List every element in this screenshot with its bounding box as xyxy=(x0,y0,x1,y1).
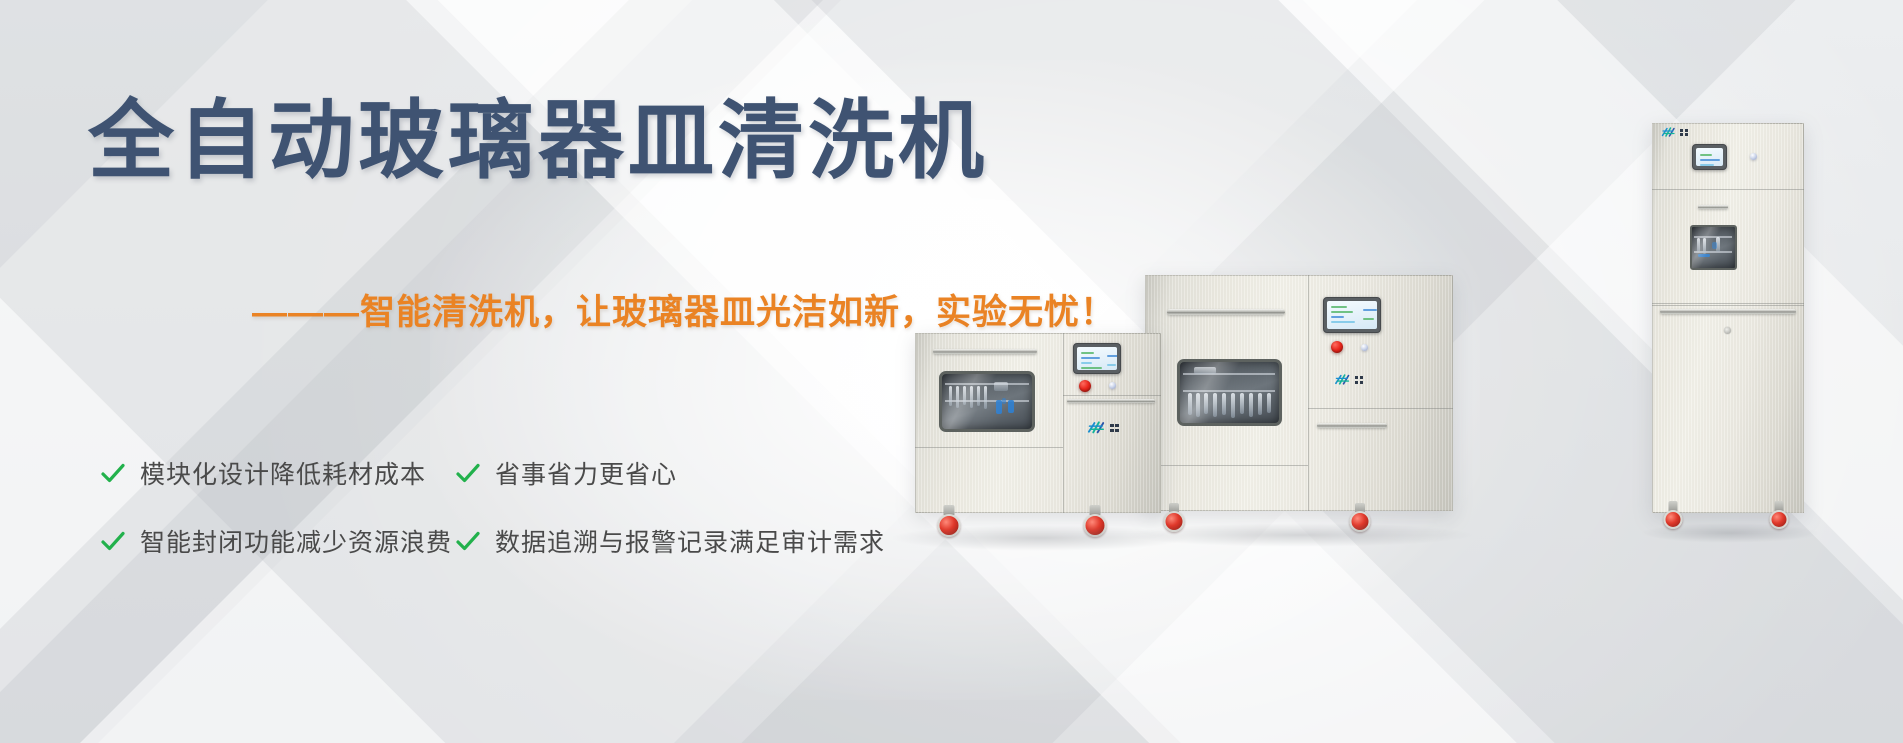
door-handle[interactable] xyxy=(933,349,1037,354)
glass-reflection xyxy=(1180,362,1279,423)
product-images xyxy=(0,0,1903,743)
panel-seam xyxy=(1063,395,1161,396)
product-undercounter-glassware-washer xyxy=(915,333,1161,513)
power-button[interactable] xyxy=(1109,382,1116,389)
logo-grid-icon xyxy=(1110,424,1119,433)
brand-logo xyxy=(1087,421,1119,435)
door-lock[interactable] xyxy=(1724,327,1731,334)
emergency-stop-button[interactable] xyxy=(1331,341,1343,353)
brand-logo xyxy=(1661,127,1688,138)
viewing-window xyxy=(1177,359,1282,426)
power-button[interactable] xyxy=(1361,344,1368,351)
logo-grid-icon xyxy=(1355,376,1363,384)
door-handle[interactable] xyxy=(1167,309,1285,315)
door-handle[interactable] xyxy=(1698,205,1728,209)
viewing-window xyxy=(1690,225,1737,270)
panel-seam xyxy=(1308,275,1309,511)
panel-seam xyxy=(1308,408,1453,409)
glass-reflection xyxy=(942,374,1032,429)
lower-door-handle[interactable] xyxy=(1067,399,1155,403)
control-touchscreen[interactable] xyxy=(1692,144,1727,170)
drop-shadow xyxy=(890,525,1190,551)
caster xyxy=(1664,501,1682,527)
panel-seam xyxy=(1652,189,1804,190)
screen-display xyxy=(1327,301,1377,329)
lower-door-handle[interactable] xyxy=(1660,309,1796,314)
panel-seam xyxy=(915,447,1063,448)
logo-grid-icon xyxy=(1680,129,1688,137)
control-touchscreen[interactable] xyxy=(1323,297,1381,333)
caster xyxy=(1770,501,1788,527)
panel-seam xyxy=(1652,305,1804,306)
product-banner: 全自动玻璃器皿清洗机 ———智能清洗机，让玻璃器皿光洁如新，实验无忧！ 模块化设… xyxy=(0,0,1903,743)
screen-display xyxy=(1077,347,1117,370)
screen-display xyxy=(1696,148,1723,166)
brand-logo xyxy=(1334,374,1363,386)
product-tall-column-glassware-washer xyxy=(1652,123,1804,513)
lower-door-handle[interactable] xyxy=(1317,423,1387,428)
product-freestanding-glassware-washer xyxy=(1145,275,1453,511)
panel-seam xyxy=(1652,303,1804,304)
emergency-stop-button[interactable] xyxy=(1079,380,1091,392)
panel-seam xyxy=(1063,333,1064,513)
control-touchscreen[interactable] xyxy=(1073,343,1121,374)
power-button[interactable] xyxy=(1750,153,1757,160)
glass-reflection xyxy=(1692,227,1735,268)
panel-seam xyxy=(1145,465,1308,466)
brushed-steel-texture xyxy=(1652,123,1804,513)
viewing-window xyxy=(939,371,1035,432)
drop-shadow xyxy=(1640,523,1820,543)
